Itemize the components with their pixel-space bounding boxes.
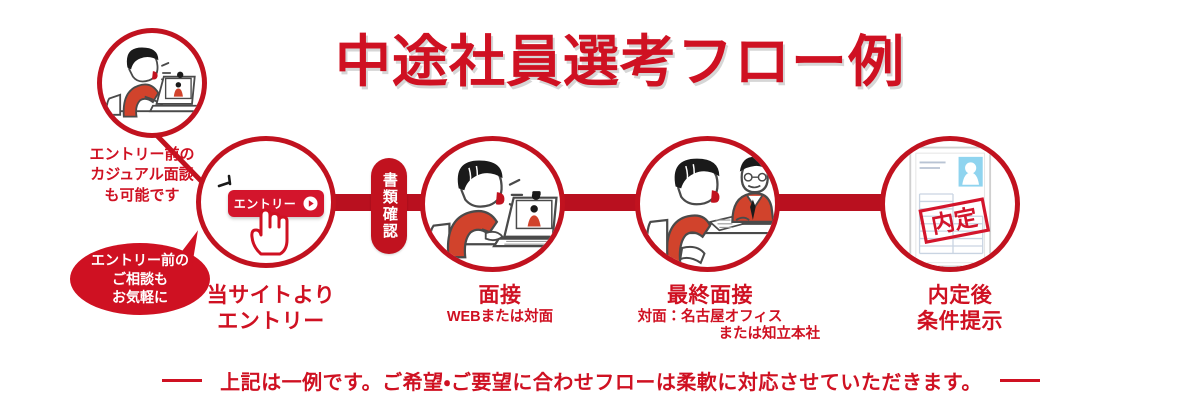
casual-meeting-callout-circle bbox=[97, 28, 207, 138]
face-to-face-interview-illustration bbox=[643, 143, 778, 271]
footer-note: 上記は一例です。ご希望・ご要望に合わせフローは柔軟に対応させていただきます。 bbox=[0, 366, 1202, 395]
footer-dash-right bbox=[1000, 379, 1040, 382]
annotation-line-1: エントリー前の bbox=[89, 146, 194, 163]
annotation-line-3: も可能です bbox=[104, 187, 179, 204]
step-3-caption: 最終面接 対面：名古屋オフィス または知立本社 bbox=[600, 283, 820, 344]
step-3-caption-sub2: または知立本社 bbox=[600, 326, 820, 344]
step-3-caption-sub: 対面：名古屋オフィス bbox=[600, 309, 820, 327]
casual-online-meeting-illustration bbox=[102, 33, 202, 133]
step-1-caption: 当サイトより エントリー bbox=[176, 283, 366, 334]
step-2-caption: 面接 WEBまたは対面 bbox=[410, 283, 590, 326]
bubble-line-2: ご相談も bbox=[112, 271, 168, 287]
connector-rail-3 bbox=[775, 194, 890, 211]
web-interview-laptop-illustration bbox=[428, 143, 563, 271]
step-1-caption-main: 当サイトより bbox=[176, 283, 366, 309]
step-4-caption: 内定後 条件提示 bbox=[880, 283, 1040, 334]
hand-cursor-icon bbox=[246, 208, 292, 256]
step-2-caption-main: 面接 bbox=[410, 283, 590, 309]
step-4-caption-main2: 条件提示 bbox=[880, 309, 1040, 335]
annotation-line-2: カジュアル面談 bbox=[90, 166, 194, 183]
step-2-circle[interactable] bbox=[420, 136, 565, 272]
flow-diagram-canvas: 中途社員選考フロー例 bbox=[0, 0, 1202, 413]
step-1-caption-main2: エントリー bbox=[176, 309, 366, 335]
bubble-line-1: エントリー前の bbox=[91, 252, 189, 268]
step-3-caption-main: 最終面接 bbox=[600, 283, 820, 309]
speech-bubble-text: エントリー前の ご相談も お気軽に bbox=[91, 251, 189, 306]
footer-dash-left bbox=[162, 379, 202, 382]
step-4-caption-main: 内定後 bbox=[880, 283, 1040, 309]
document-check-label: 書類確認 bbox=[381, 172, 397, 240]
step-2-caption-sub: WEBまたは対面 bbox=[410, 309, 590, 327]
document-check-capsule: 書類確認 bbox=[371, 158, 407, 254]
resume-with-offer-stamp-illustration: 内定 bbox=[888, 143, 1018, 271]
page-title: 中途社員選考フロー例 bbox=[335, 29, 875, 97]
play-arrow-icon bbox=[303, 196, 318, 211]
step-3-circle[interactable] bbox=[635, 136, 780, 272]
footer-note-text: 上記は一例です。ご希望・ご要望に合わせフローは柔軟に対応させていただきます。 bbox=[220, 366, 982, 395]
bubble-line-3: お気軽に bbox=[112, 289, 168, 305]
step-4-circle[interactable]: 内定 bbox=[880, 136, 1020, 272]
